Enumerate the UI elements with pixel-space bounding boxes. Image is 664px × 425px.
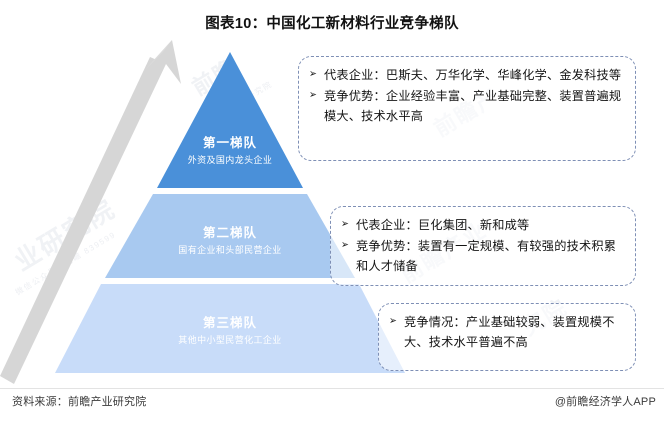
arrow-bullet-icon: ➢	[309, 66, 322, 84]
arrow-bullet-icon: ➢	[309, 87, 322, 105]
pyramid-tier-1-shape	[157, 52, 303, 188]
arrow-bullet-icon: ➢	[389, 313, 402, 331]
bullet-item: ➢ 代表企业：巨化集团、新和成等	[341, 216, 623, 236]
callout-tier-2: ➢ 代表企业：巨化集团、新和成等 ➢ 竞争优势：装置有一定规模、有较强的技术积累…	[330, 206, 636, 286]
page-title: 图表10：中国化工新材料行业竞争梯队	[0, 12, 664, 33]
bullet-item: ➢ 代表企业：巴斯夫、万华化学、华峰化学、金发科技等	[309, 66, 623, 86]
bullet-text: 代表企业：巨化集团、新和成等	[356, 216, 623, 236]
credit-note: @前瞻经济学人APP	[555, 393, 656, 409]
bullet-item: ➢ 竞争优势：企业经验丰富、产业基础完整、装置普遍规模大、技术水平高	[309, 87, 623, 127]
pyramid-tier-2-shape	[105, 194, 355, 278]
bullet-item: ➢ 竞争情况：产业基础较弱、装置规模不大、技术水平普遍不高	[389, 313, 623, 353]
bullet-text: 代表企业：巴斯夫、万华化学、华峰化学、金发科技等	[324, 66, 623, 86]
bullet-item: ➢ 竞争优势：装置有一定规模、有较强的技术积累和人才储备	[341, 237, 623, 277]
footer-divider	[0, 388, 664, 389]
bullet-text: 竞争优势：企业经验丰富、产业基础完整、装置普遍规模大、技术水平高	[324, 87, 623, 127]
bullet-text: 竞争优势：装置有一定规模、有较强的技术积累和人才储备	[356, 237, 623, 277]
title-divider	[0, 36, 664, 37]
pyramid-tier-3-shape	[55, 284, 405, 373]
arrow-bullet-icon: ➢	[341, 237, 354, 255]
arrow-bullet-icon: ➢	[341, 216, 354, 234]
source-note: 资料来源：前瞻产业研究院	[12, 393, 146, 409]
callout-tier-1: ➢ 代表企业：巴斯夫、万华化学、华峰化学、金发科技等 ➢ 竞争优势：企业经验丰富…	[298, 56, 636, 161]
bullet-text: 竞争情况：产业基础较弱、装置规模不大、技术水平普遍不高	[404, 313, 623, 353]
callout-tier-3: ➢ 竞争情况：产业基础较弱、装置规模不大、技术水平普遍不高	[378, 303, 636, 371]
